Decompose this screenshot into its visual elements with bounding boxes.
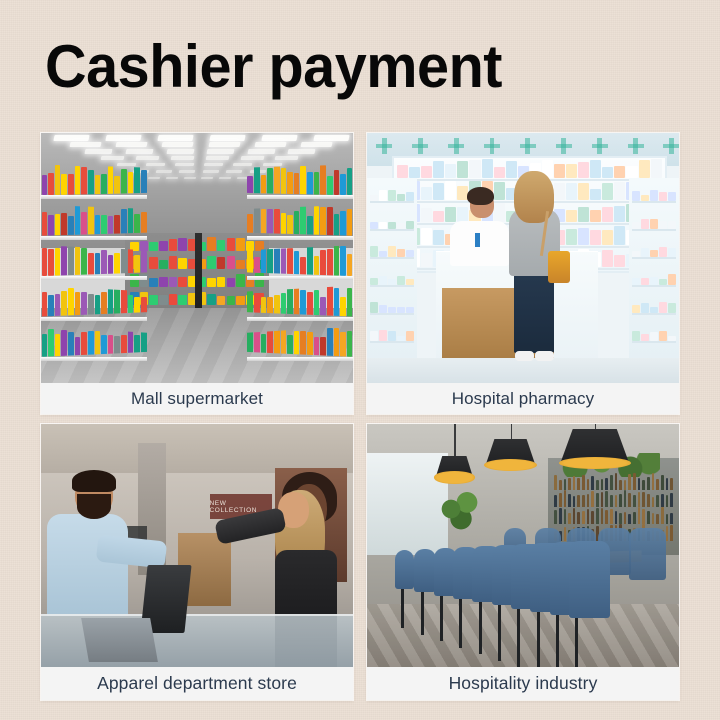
pharmacy-cross-icon [484, 138, 500, 154]
shelf-row [370, 330, 414, 343]
ceiling-light [207, 149, 235, 154]
card-caption-hospitality-industry: Hospitality industry [367, 667, 679, 700]
bar-stool [395, 550, 414, 589]
customer-handbag [548, 251, 570, 284]
card-hospitality-industry[interactable]: Hospitality industry [367, 424, 679, 700]
store-ceiling [41, 424, 353, 473]
medicine-box [590, 189, 601, 201]
stool-leg [421, 592, 424, 634]
medicine-box [409, 167, 420, 178]
medicine-box [433, 230, 444, 245]
photo-apparel-department-store: NEW COLLECTION [41, 424, 353, 667]
stool-leg [537, 612, 540, 667]
stool-leg [498, 605, 501, 660]
medicine-box [482, 159, 493, 177]
medicine-box [614, 226, 625, 245]
pharmacist-hair [467, 187, 494, 205]
salesman-shirt [47, 514, 128, 616]
shelf-row [370, 302, 414, 315]
shelf-row [632, 218, 676, 231]
medicine-box [590, 230, 601, 245]
pharmacy-cross-icon [520, 138, 536, 154]
ceiling-light [226, 170, 242, 173]
shelf-row [632, 190, 676, 203]
bar-stool [414, 549, 435, 592]
pendant-lamp-glow [559, 457, 631, 469]
ceiling-light [261, 135, 297, 141]
ceiling-light [157, 135, 193, 141]
ceiling-light [166, 177, 178, 179]
medicine-box [421, 253, 432, 267]
photo-mall-supermarket [41, 133, 353, 383]
pendant-lamp-glow [434, 471, 475, 483]
customer-shoe-left [515, 351, 534, 361]
shelf-plank [41, 357, 147, 361]
shelf-row [370, 246, 414, 259]
medicine-box [445, 164, 456, 177]
product-shelf-row [247, 286, 353, 317]
medicine-box [469, 160, 480, 177]
medicine-box [590, 160, 601, 178]
pharmacy-scene [367, 133, 679, 383]
product-shelf-row [41, 165, 147, 196]
scene-card-grid: Mall supermarket [41, 133, 678, 700]
medicine-box [566, 164, 577, 178]
restaurant-scene [367, 424, 679, 667]
stool-leg [479, 602, 482, 654]
pharmacist-lanyard [475, 233, 480, 247]
customer-legs [514, 271, 555, 354]
pharmacy-cross-icon [376, 138, 392, 154]
shelf-plank [41, 317, 147, 321]
ceiling-light [205, 156, 229, 160]
pharmacy-cross-icon [556, 138, 572, 154]
card-caption-hospital-pharmacy: Hospital pharmacy [367, 383, 679, 414]
medicine-box [566, 229, 577, 244]
medicine-box [445, 181, 456, 200]
product-shelf-row [247, 205, 353, 236]
stool-leg [556, 615, 559, 667]
product-shelf-row [41, 286, 147, 317]
medicine-box [421, 166, 432, 178]
shelf-row [632, 274, 676, 287]
salesman-beard [77, 494, 111, 518]
ceiling-light [204, 163, 224, 166]
shelf-plank [247, 357, 353, 361]
shelf-row [632, 246, 676, 259]
medicine-box [433, 211, 444, 223]
ceiling-light [208, 142, 240, 147]
bar-stool [629, 528, 666, 579]
photo-hospitality-industry [367, 424, 679, 667]
laptop [81, 618, 157, 662]
medicine-box [397, 165, 408, 178]
liquor-bottle-row [554, 473, 673, 490]
ceiling-light [148, 177, 160, 179]
hex-tile-floor [367, 604, 679, 667]
ceiling-light [201, 177, 213, 179]
pharmacy-cross-icon [628, 138, 644, 154]
ceiling-light [166, 149, 194, 154]
shelf-plank [41, 236, 147, 240]
ceiling-light [156, 170, 172, 173]
pharmacy-cross-icon [412, 138, 428, 154]
medicine-box [494, 167, 505, 178]
right-shelf-unit [247, 146, 353, 384]
potted-palm [436, 487, 486, 531]
medicine-box [602, 183, 613, 200]
ceiling-light [146, 163, 166, 166]
card-mall-supermarket[interactable]: Mall supermarket [41, 133, 353, 414]
pharmacy-floor [367, 358, 679, 383]
customer-shoe-right [535, 351, 554, 361]
product-shelf-row [41, 245, 147, 276]
shelf-plank [247, 195, 353, 199]
shelf-row [632, 330, 676, 343]
medicine-box [494, 182, 505, 200]
pendant-lamp-cord [454, 424, 456, 456]
shelf-row [632, 302, 676, 315]
ceiling-light [105, 135, 141, 141]
right-display-shelf [629, 178, 679, 383]
ceiling-light [219, 177, 231, 179]
medicine-box [457, 161, 468, 178]
medicine-box [578, 228, 589, 245]
medicine-box [554, 164, 565, 178]
medicine-box [506, 161, 517, 178]
pharmacy-cross-icon [448, 138, 464, 154]
ceiling-light [179, 170, 195, 173]
product-shelf-row [41, 326, 147, 357]
medicine-box [421, 208, 432, 223]
shelf-plank [247, 317, 353, 321]
stool-leg [459, 599, 462, 648]
ceiling-light [203, 170, 219, 173]
card-caption-apparel-department-store: Apparel department store [41, 667, 353, 700]
stool-leg [440, 596, 443, 641]
medicine-box [566, 210, 577, 222]
shelf-plank [247, 236, 353, 240]
pendant-lamp-cord [511, 424, 513, 439]
medicine-box [578, 183, 589, 200]
salesman-hair [72, 470, 116, 492]
medicine-box [578, 162, 589, 177]
medicine-box [494, 203, 505, 222]
photo-hospital-pharmacy [367, 133, 679, 383]
medicine-box [614, 255, 625, 267]
shelf-row [370, 190, 414, 203]
ceiling-light [162, 142, 194, 147]
medicine-box [614, 182, 625, 200]
medicine-box [433, 183, 444, 200]
pharmacy-cross-icon [663, 138, 679, 154]
ceiling-light [313, 135, 349, 141]
medicine-box [602, 207, 613, 223]
medicine-box [626, 166, 637, 177]
medicine-box [421, 228, 432, 244]
medicine-box [578, 207, 589, 222]
liquor-bottle-row [554, 490, 673, 507]
card-hospital-pharmacy[interactable]: Hospital pharmacy [367, 133, 679, 414]
supermarket-scene [41, 133, 353, 383]
ceiling-light [170, 156, 194, 160]
shelf-plank [41, 276, 147, 280]
stool-leg [575, 618, 578, 667]
stool-leg [401, 589, 404, 628]
product-shelf-row [247, 326, 353, 357]
medicine-box [602, 250, 613, 267]
medicine-box [433, 161, 444, 178]
bar-stool [569, 541, 610, 619]
medicine-box [614, 166, 625, 178]
medicine-box [421, 187, 432, 200]
left-display-shelf [367, 178, 417, 383]
medicine-box [639, 160, 650, 178]
card-apparel-department-store[interactable]: NEW COLLECTION Apparel department store [41, 424, 353, 700]
medicine-box [590, 210, 601, 222]
card-caption-mall-supermarket: Mall supermarket [41, 383, 353, 414]
apparel-store-scene: NEW COLLECTION [41, 424, 353, 667]
ceiling-light [209, 135, 245, 141]
medicine-box [554, 183, 565, 200]
pendant-lamp-cord [595, 424, 597, 429]
shelf-plank [41, 195, 147, 199]
left-shelf-unit [41, 146, 147, 384]
pharmacy-cross-icon [592, 138, 608, 154]
medicine-box [602, 167, 613, 178]
page-title: Cashier payment [45, 36, 502, 98]
product-shelf-row [247, 165, 353, 196]
product-shelf-row [41, 205, 147, 236]
medicine-box [651, 159, 662, 178]
medicine-box [614, 206, 625, 223]
stool-leg [517, 609, 520, 667]
ceiling-light [175, 163, 195, 166]
ceiling-light [184, 177, 196, 179]
liquor-bottle-row [554, 507, 673, 524]
product-shelf-row [247, 245, 353, 276]
medicine-box [602, 230, 613, 244]
ceiling-light [53, 135, 89, 141]
medicine-box [445, 207, 456, 223]
shelf-row [370, 274, 414, 287]
medicine-box [566, 183, 577, 200]
shelf-plank [247, 276, 353, 280]
shelf-row [370, 218, 414, 231]
